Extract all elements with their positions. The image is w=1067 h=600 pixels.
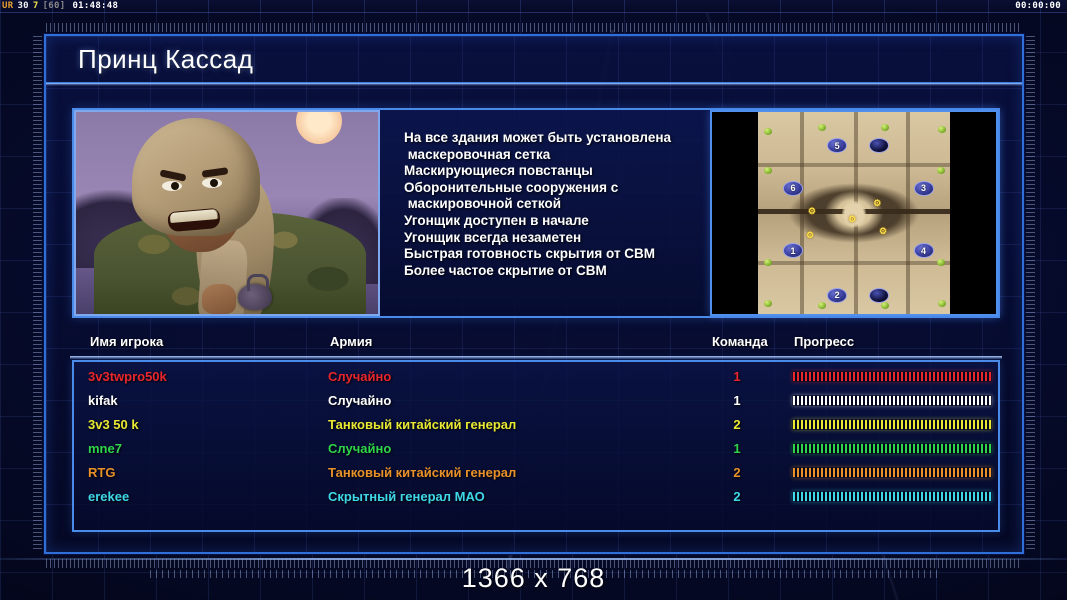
map-start-position[interactable]: 6 [783, 181, 803, 196]
oil-derrick-icon: ⚙ [806, 231, 815, 240]
column-header-player: Имя игрока [90, 334, 163, 349]
ruler-top [46, 23, 1022, 32]
player-row[interactable]: 3v3 50 kТанковый китайский генерал2 [74, 414, 998, 438]
supply-dock-icon [764, 300, 772, 307]
status-right-timer: 00:00:00 [1015, 1, 1067, 11]
map-path-horizontal-bot [758, 261, 950, 265]
player-name: kifak [88, 393, 118, 408]
player-team: 2 [722, 465, 752, 480]
player-progress-bar [792, 395, 992, 406]
oil-derrick-icon: ⚙ [848, 215, 857, 224]
map-start-position[interactable] [869, 288, 889, 303]
supply-dock-icon [818, 124, 826, 131]
player-list: 3v3twpro50kСлучайно1kifakСлучайно13v3 50… [72, 360, 1000, 532]
map-start-position[interactable]: 5 [827, 138, 847, 153]
ability-line: Оборонительные сооружения с [404, 180, 700, 197]
player-team: 2 [722, 417, 752, 432]
player-row[interactable]: mne7Случайно1 [74, 438, 998, 462]
player-row[interactable]: erekeeСкрытный генерал МАО2 [74, 486, 998, 510]
map-preview: ⚙⚙⚙⚙⚙563142 [710, 110, 998, 316]
map-start-position[interactable] [869, 138, 889, 153]
top-status-grid [0, 0, 1067, 13]
resolution-overlay: 1366 x 768 [0, 556, 1067, 600]
player-team: 1 [722, 369, 752, 384]
supply-dock-icon [818, 302, 826, 309]
player-army: Скрытный генерал МАО [328, 489, 485, 504]
ability-line: Угонщик всегда незаметен [404, 230, 700, 247]
player-row[interactable]: kifakСлучайно1 [74, 390, 998, 414]
ability-line: Более частое скрытие от СВМ [404, 263, 700, 280]
player-progress-bar [792, 467, 992, 478]
column-header-team: Команда [712, 334, 768, 349]
top-status-bar: UR 30 7 [60] 01:48:48 00:00:00 [0, 0, 1067, 13]
player-name: RTG [88, 465, 115, 480]
player-progress-bar [792, 371, 992, 382]
hand [202, 284, 236, 314]
page-title: Принц Кассад [78, 44, 253, 75]
pupil-left [171, 182, 179, 190]
player-name: 3v3 50 k [88, 417, 139, 432]
supply-dock-icon [764, 128, 772, 135]
map-start-position[interactable]: 3 [914, 181, 934, 196]
ability-line: На все здания может быть установлена [404, 130, 700, 147]
player-progress-bar [792, 443, 992, 454]
player-army: Случайно [328, 369, 391, 384]
ability-line: Быстрая готовность скрытия от СВМ [404, 246, 700, 263]
player-progress-bar [792, 419, 992, 430]
supply-dock-icon [937, 167, 945, 174]
oil-derrick-icon: ⚙ [808, 207, 817, 216]
supply-dock-icon [881, 124, 889, 131]
player-progress-bar [792, 491, 992, 502]
map-terrain: ⚙⚙⚙⚙⚙563142 [758, 112, 950, 314]
player-army: Танковый китайский генерал [328, 417, 516, 432]
title-bar: Принц Кассад [46, 36, 1022, 84]
player-name: erekee [88, 489, 129, 504]
status-timer: 01:48:48 [70, 1, 120, 11]
map-start-position[interactable]: 4 [914, 243, 934, 258]
supply-dock-icon [881, 302, 889, 309]
supply-dock-icon [938, 300, 946, 307]
main-panel: Принц Кассад На все здания может быть ус… [44, 34, 1024, 554]
held-object [238, 284, 272, 310]
general-ability-list: На все здания может быть установлена мас… [380, 110, 710, 316]
oil-derrick-icon: ⚙ [879, 227, 888, 236]
player-name: 3v3twpro50k [88, 369, 167, 384]
sun-icon [296, 110, 342, 144]
general-portrait [74, 110, 380, 316]
player-team: 1 [722, 441, 752, 456]
player-name: mne7 [88, 441, 122, 456]
table-header-row: Имя игрока Армия Команда Прогресс [76, 334, 996, 356]
supply-dock-icon [764, 167, 772, 174]
oil-derrick-icon: ⚙ [873, 199, 882, 208]
resolution-text: 1366 x 768 [462, 563, 606, 594]
player-army: Случайно [328, 441, 391, 456]
column-header-progress: Прогресс [794, 334, 854, 349]
status-bracket: [60] [41, 1, 68, 11]
status-value-1: 30 [15, 1, 30, 11]
status-value-2: 7 [31, 1, 41, 11]
supply-dock-icon [938, 126, 946, 133]
ability-line: Угонщик доступен в начале [404, 213, 700, 230]
player-team: 1 [722, 393, 752, 408]
pupil-right [210, 179, 218, 187]
column-header-army: Армия [330, 334, 372, 349]
ruler-right [1026, 36, 1035, 552]
player-army: Танковый китайский генерал [328, 465, 516, 480]
ability-line: Маскирующиеся повстанцы [404, 163, 700, 180]
map-start-position[interactable]: 2 [827, 288, 847, 303]
ability-line: маскировочной сеткой [404, 196, 700, 213]
player-row[interactable]: RTGТанковый китайский генерал2 [74, 462, 998, 486]
ruler-left [33, 36, 42, 552]
status-label: UR [0, 1, 15, 11]
table-header-divider [70, 356, 1002, 359]
ability-line: маскеровочная сетка [404, 147, 700, 164]
player-row[interactable]: 3v3twpro50kСлучайно1 [74, 366, 998, 390]
map-path-horizontal-top [758, 163, 950, 167]
player-army: Случайно [328, 393, 391, 408]
player-team: 2 [722, 489, 752, 504]
general-info-panel: На все здания может быть установлена мас… [72, 108, 1000, 318]
